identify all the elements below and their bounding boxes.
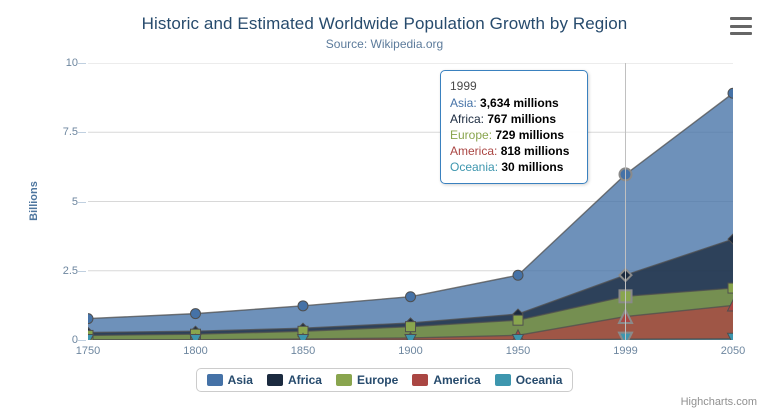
- x-axis-tick-label: 1900: [398, 345, 422, 357]
- chart-subtitle: Source: Wikipedia.org: [0, 37, 769, 51]
- tooltip-series-name: Europe:: [450, 128, 495, 142]
- tooltip-series-value: 767 millions: [487, 112, 556, 126]
- tooltip-series-name: Asia:: [450, 96, 480, 110]
- marker-europe-1950[interactable]: [513, 315, 523, 325]
- marker-europe-1900[interactable]: [406, 322, 416, 332]
- legend-label: Europe: [357, 373, 398, 387]
- legend-swatch-icon: [207, 374, 223, 386]
- tooltip-row: Oceania: 30 millions: [450, 159, 578, 175]
- legend-item-africa[interactable]: Africa: [267, 373, 322, 387]
- marker-asia-1850[interactable]: [298, 301, 308, 311]
- legend-swatch-icon: [336, 374, 352, 386]
- legend-swatch-icon: [412, 374, 428, 386]
- legend-box: AsiaAfricaEuropeAmericaOceania: [196, 368, 574, 392]
- tooltip-series-name: America:: [450, 144, 501, 158]
- chart-tooltip: 1999 Asia: 3,634 millionsAfrica: 767 mil…: [440, 70, 588, 184]
- y-axis-tick-label: 7.5: [63, 126, 78, 138]
- plot-area: [88, 63, 733, 340]
- tooltip-series-value: 30 millions: [501, 160, 563, 174]
- y-axis-tick-mark: [78, 271, 86, 272]
- tooltip-row: Europe: 729 millions: [450, 127, 578, 143]
- legend-item-asia[interactable]: Asia: [207, 373, 253, 387]
- tooltip-row: America: 818 millions: [450, 143, 578, 159]
- x-axis-tick-label: 1850: [291, 345, 315, 357]
- tooltip-row: Africa: 767 millions: [450, 111, 578, 127]
- x-axis-tick-label: 1750: [76, 345, 100, 357]
- y-axis-tick-mark: [78, 63, 86, 64]
- tooltip-rows: Asia: 3,634 millionsAfrica: 767 millions…: [450, 95, 578, 175]
- highcharts-container: Historic and Estimated Worldwide Populat…: [0, 0, 769, 416]
- tooltip-series-value: 818 millions: [501, 144, 570, 158]
- tooltip-series-name: Africa:: [450, 112, 487, 126]
- x-axis-tick-label: 1999: [613, 345, 637, 357]
- legend-item-america[interactable]: America: [412, 373, 480, 387]
- tooltip-series-name: Oceania:: [450, 160, 501, 174]
- hamburger-menu-icon[interactable]: [730, 17, 752, 35]
- legend-swatch-icon: [267, 374, 283, 386]
- menu-bar-3: [730, 32, 752, 35]
- tooltip-series-value: 3,634 millions: [480, 96, 559, 110]
- legend-item-oceania[interactable]: Oceania: [495, 373, 563, 387]
- tooltip-series-value: 729 millions: [495, 128, 564, 142]
- y-axis-ticks: 02.557.510: [0, 0, 78, 416]
- y-axis-tick-mark: [78, 202, 86, 203]
- legend-label: Asia: [228, 373, 253, 387]
- marker-asia-1950[interactable]: [513, 270, 523, 280]
- chart-title: Historic and Estimated Worldwide Populat…: [0, 14, 769, 34]
- y-axis-tick-mark: [78, 132, 86, 133]
- legend-label: Africa: [288, 373, 322, 387]
- y-axis-tick-mark: [78, 340, 86, 341]
- y-axis-tick-label: 2.5: [63, 265, 78, 277]
- y-axis-tick-label: 10: [66, 57, 78, 69]
- legend-item-europe[interactable]: Europe: [336, 373, 398, 387]
- x-axis-tick-label: 1950: [506, 345, 530, 357]
- credits-link[interactable]: Highcharts.com: [681, 396, 757, 408]
- legend-swatch-icon: [495, 374, 511, 386]
- legend-label: America: [433, 373, 480, 387]
- tooltip-header: 1999: [450, 78, 578, 95]
- chart-legend: AsiaAfricaEuropeAmericaOceania: [0, 368, 769, 392]
- legend-label: Oceania: [516, 373, 563, 387]
- marker-europe-2050[interactable]: [728, 283, 733, 293]
- x-axis-tick-label: 2050: [721, 345, 745, 357]
- menu-bar-1: [730, 17, 752, 20]
- chart-canvas: [88, 63, 733, 340]
- marker-asia-1900[interactable]: [406, 292, 416, 302]
- x-axis-tick-label: 1800: [183, 345, 207, 357]
- menu-bar-2: [730, 25, 752, 28]
- tooltip-row: Asia: 3,634 millions: [450, 95, 578, 111]
- marker-asia-1800[interactable]: [191, 309, 201, 319]
